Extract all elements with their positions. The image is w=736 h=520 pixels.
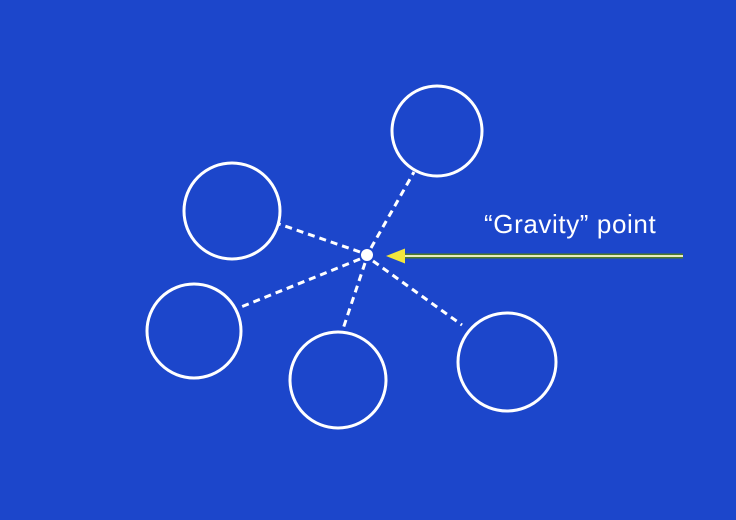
diagram-canvas: “Gravity” point xyxy=(0,0,736,520)
gravity-point-dot[interactable] xyxy=(361,249,373,261)
gravity-diagram xyxy=(0,0,736,520)
